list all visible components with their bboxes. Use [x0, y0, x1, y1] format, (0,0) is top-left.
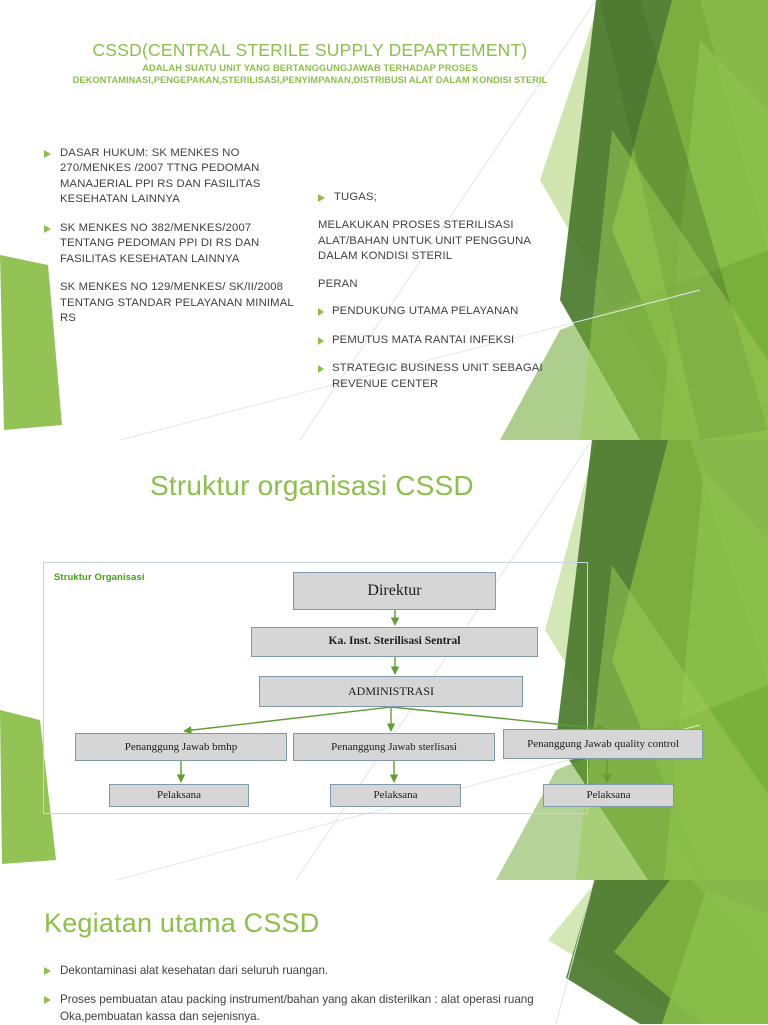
slide-1-title: CSSD(CENTRAL STERILE SUPPLY DEPARTEMENT): [0, 40, 620, 60]
tugas-paragraph: MELAKUKAN PROSES STERILISASI ALAT/BAHAN …: [318, 218, 573, 264]
triangle-bullet-icon: [318, 194, 325, 202]
list-item: PEMUTUS MATA RANTAI INFEKSI: [318, 333, 573, 348]
triangle-bullet-icon: [318, 308, 324, 316]
slide-1-right-column: TUGAS; MELAKUKAN PROSES STERILISASI ALAT…: [318, 190, 573, 392]
list-item: Proses pembuatan atau packing instrument…: [44, 992, 589, 1025]
org-node-penanggung-jawab-sterlisasi[interactable]: Penanggung Jawab sterlisasi: [293, 733, 495, 761]
org-node-administrasi[interactable]: ADMINISTRASI: [259, 676, 523, 707]
slide-3-title: Kegiatan utama CSSD: [44, 908, 319, 939]
presentation-deck: CSSD(CENTRAL STERILE SUPPLY DEPARTEMENT)…: [0, 0, 768, 1024]
list-item: DASAR HUKUM: SK MENKES NO 270/MENKES /20…: [44, 146, 299, 208]
bullet-text: STRATEGIC BUSINESS UNIT SEBAGAI REVENUE …: [332, 361, 573, 392]
bullet-text: DASAR HUKUM: SK MENKES NO 270/MENKES /20…: [60, 146, 299, 208]
bullet-text: SK MENKES NO 129/MENKES/ SK/II/2008 TENT…: [60, 280, 299, 326]
list-item: STRATEGIC BUSINESS UNIT SEBAGAI REVENUE …: [318, 361, 573, 392]
slide-1-subtitle-line-1: ADALAH SUATU UNIT YANG BERTANGGUNGJAWAB …: [0, 63, 620, 73]
list-item: TUGAS;: [318, 190, 573, 205]
list-item: SK MENKES NO 382/MENKES/2007 TENTANG PED…: [44, 221, 299, 267]
slide-3-list: Dekontaminasi alat kesehatan dari seluru…: [44, 963, 589, 1025]
slide-1-title-block: CSSD(CENTRAL STERILE SUPPLY DEPARTEMENT)…: [0, 40, 620, 85]
triangle-bullet-icon: [44, 225, 51, 233]
list-item: Dekontaminasi alat kesehatan dari seluru…: [44, 963, 589, 979]
slide-2-title: Struktur organisasi CSSD: [150, 470, 474, 502]
bullet-text: PENDUKUNG UTAMA PELAYANAN: [332, 304, 518, 319]
org-node-penanggung-jawab-bmhp[interactable]: Penanggung Jawab bmhp: [75, 733, 287, 761]
triangle-bullet-icon: [44, 996, 51, 1004]
org-node-ka-inst-sterilisasi-sentral[interactable]: Ka. Inst. Sterilisasi Sentral: [251, 627, 538, 657]
triangle-bullet-icon: [44, 150, 51, 158]
triangle-bullet-icon: [44, 967, 51, 975]
org-node-pelaksana-3[interactable]: Pelaksana: [543, 784, 674, 807]
slide-1: CSSD(CENTRAL STERILE SUPPLY DEPARTEMENT)…: [0, 0, 768, 440]
slide-1-left-column: DASAR HUKUM: SK MENKES NO 270/MENKES /20…: [44, 146, 299, 327]
triangle-bullet-icon: [44, 284, 51, 292]
list-item: PENDUKUNG UTAMA PELAYANAN: [318, 304, 573, 319]
org-chart-label: Struktur Organisasi: [54, 572, 145, 583]
org-node-direktur[interactable]: Direktur: [293, 572, 496, 610]
bullet-text: Dekontaminasi alat kesehatan dari seluru…: [60, 963, 328, 979]
bullet-text: Proses pembuatan atau packing instrument…: [60, 992, 589, 1025]
org-node-pelaksana-1[interactable]: Pelaksana: [109, 784, 249, 807]
peran-label: PERAN: [318, 277, 573, 292]
list-item: SK MENKES NO 129/MENKES/ SK/II/2008 TENT…: [44, 280, 299, 326]
org-node-pelaksana-2[interactable]: Pelaksana: [330, 784, 461, 807]
org-node-penanggung-jawab-quality-control[interactable]: Penanggung Jawab quality control: [503, 729, 703, 759]
tugas-label: TUGAS;: [334, 190, 377, 205]
slide-1-subtitle-line-2: DEKONTAMINASI,PENGEPAKAN,STERILISASI,PEN…: [0, 75, 620, 85]
bullet-text: PEMUTUS MATA RANTAI INFEKSI: [332, 333, 514, 348]
triangle-bullet-icon: [318, 337, 324, 345]
triangle-bullet-icon: [318, 365, 324, 373]
bullet-text: SK MENKES NO 382/MENKES/2007 TENTANG PED…: [60, 221, 299, 267]
